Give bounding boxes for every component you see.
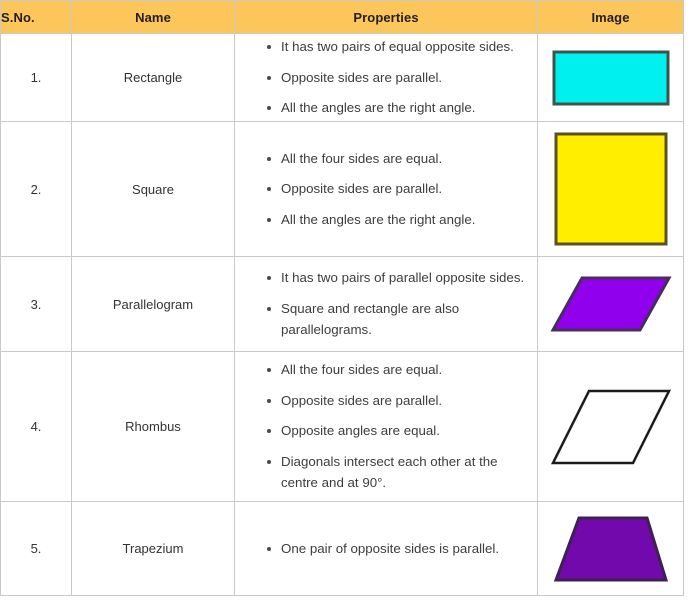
table-row: 2. Square All the four sides are equal. … [1, 122, 684, 257]
column-header-properties: Properties [235, 1, 538, 34]
row-shape-name: Rhombus [72, 352, 235, 502]
list-item: It has two pairs of parallel opposite si… [267, 267, 537, 289]
property-list: It has two pairs of parallel opposite si… [235, 267, 537, 341]
table-row: 3. Parallelogram It has two pairs of par… [1, 257, 684, 352]
row-shape-image [538, 502, 684, 596]
rhombus-icon [550, 388, 672, 466]
trapezium-icon [553, 515, 669, 583]
row-properties: It has two pairs of equal opposite sides… [235, 34, 538, 122]
property-list: One pair of opposite sides is parallel. [235, 538, 537, 560]
list-item: All the four sides are equal. [267, 359, 537, 381]
row-properties: One pair of opposite sides is parallel. [235, 502, 538, 596]
column-header-sno: S.No. [1, 1, 72, 34]
column-header-name: Name [72, 1, 235, 34]
row-serial-number: 3. [1, 257, 72, 352]
row-shape-name: Trapezium [72, 502, 235, 596]
row-shape-name: Rectangle [72, 34, 235, 122]
row-shape-image [538, 34, 684, 122]
table-body: 1. Rectangle It has two pairs of equal o… [1, 34, 684, 596]
list-item: One pair of opposite sides is parallel. [267, 538, 537, 560]
list-item: Diagonals intersect each other at the ce… [267, 451, 537, 494]
row-properties: All the four sides are equal. Opposite s… [235, 352, 538, 502]
row-serial-number: 1. [1, 34, 72, 122]
table-row: 1. Rectangle It has two pairs of equal o… [1, 34, 684, 122]
row-shape-name: Square [72, 122, 235, 257]
row-shape-image [538, 352, 684, 502]
square-icon [554, 132, 668, 246]
row-serial-number: 4. [1, 352, 72, 502]
table-header-row: S.No. Name Properties Image [1, 1, 684, 34]
parallelogram-icon [550, 275, 672, 333]
column-header-image: Image [538, 1, 684, 34]
row-properties: It has two pairs of parallel opposite si… [235, 257, 538, 352]
quadrilaterals-table: S.No. Name Properties Image 1. Rectangle… [0, 0, 684, 596]
list-item: All the four sides are equal. [267, 148, 537, 170]
property-list: All the four sides are equal. Opposite s… [235, 359, 537, 494]
list-item: It has two pairs of equal opposite sides… [267, 36, 537, 58]
row-properties: All the four sides are equal. Opposite s… [235, 122, 538, 257]
rectangle-icon [552, 50, 670, 106]
property-list: It has two pairs of equal opposite sides… [235, 36, 537, 119]
list-item: Square and rectangle are also parallelog… [267, 298, 537, 341]
property-list: All the four sides are equal. Opposite s… [235, 148, 537, 231]
table-row: 5. Trapezium One pair of opposite sides … [1, 502, 684, 596]
row-shape-image [538, 122, 684, 257]
list-item: Opposite angles are equal. [267, 420, 537, 442]
quadrilaterals-table-container: S.No. Name Properties Image 1. Rectangle… [0, 0, 681, 596]
list-item: Opposite sides are parallel. [267, 390, 537, 412]
list-item: Opposite sides are parallel. [267, 178, 537, 200]
row-shape-image [538, 257, 684, 352]
row-serial-number: 2. [1, 122, 72, 257]
table-header: S.No. Name Properties Image [1, 1, 684, 34]
list-item: Opposite sides are parallel. [267, 67, 537, 89]
list-item: All the angles are the right angle. [267, 209, 537, 231]
row-serial-number: 5. [1, 502, 72, 596]
row-shape-name: Parallelogram [72, 257, 235, 352]
table-row: 4. Rhombus All the four sides are equal.… [1, 352, 684, 502]
list-item: All the angles are the right angle. [267, 97, 537, 119]
